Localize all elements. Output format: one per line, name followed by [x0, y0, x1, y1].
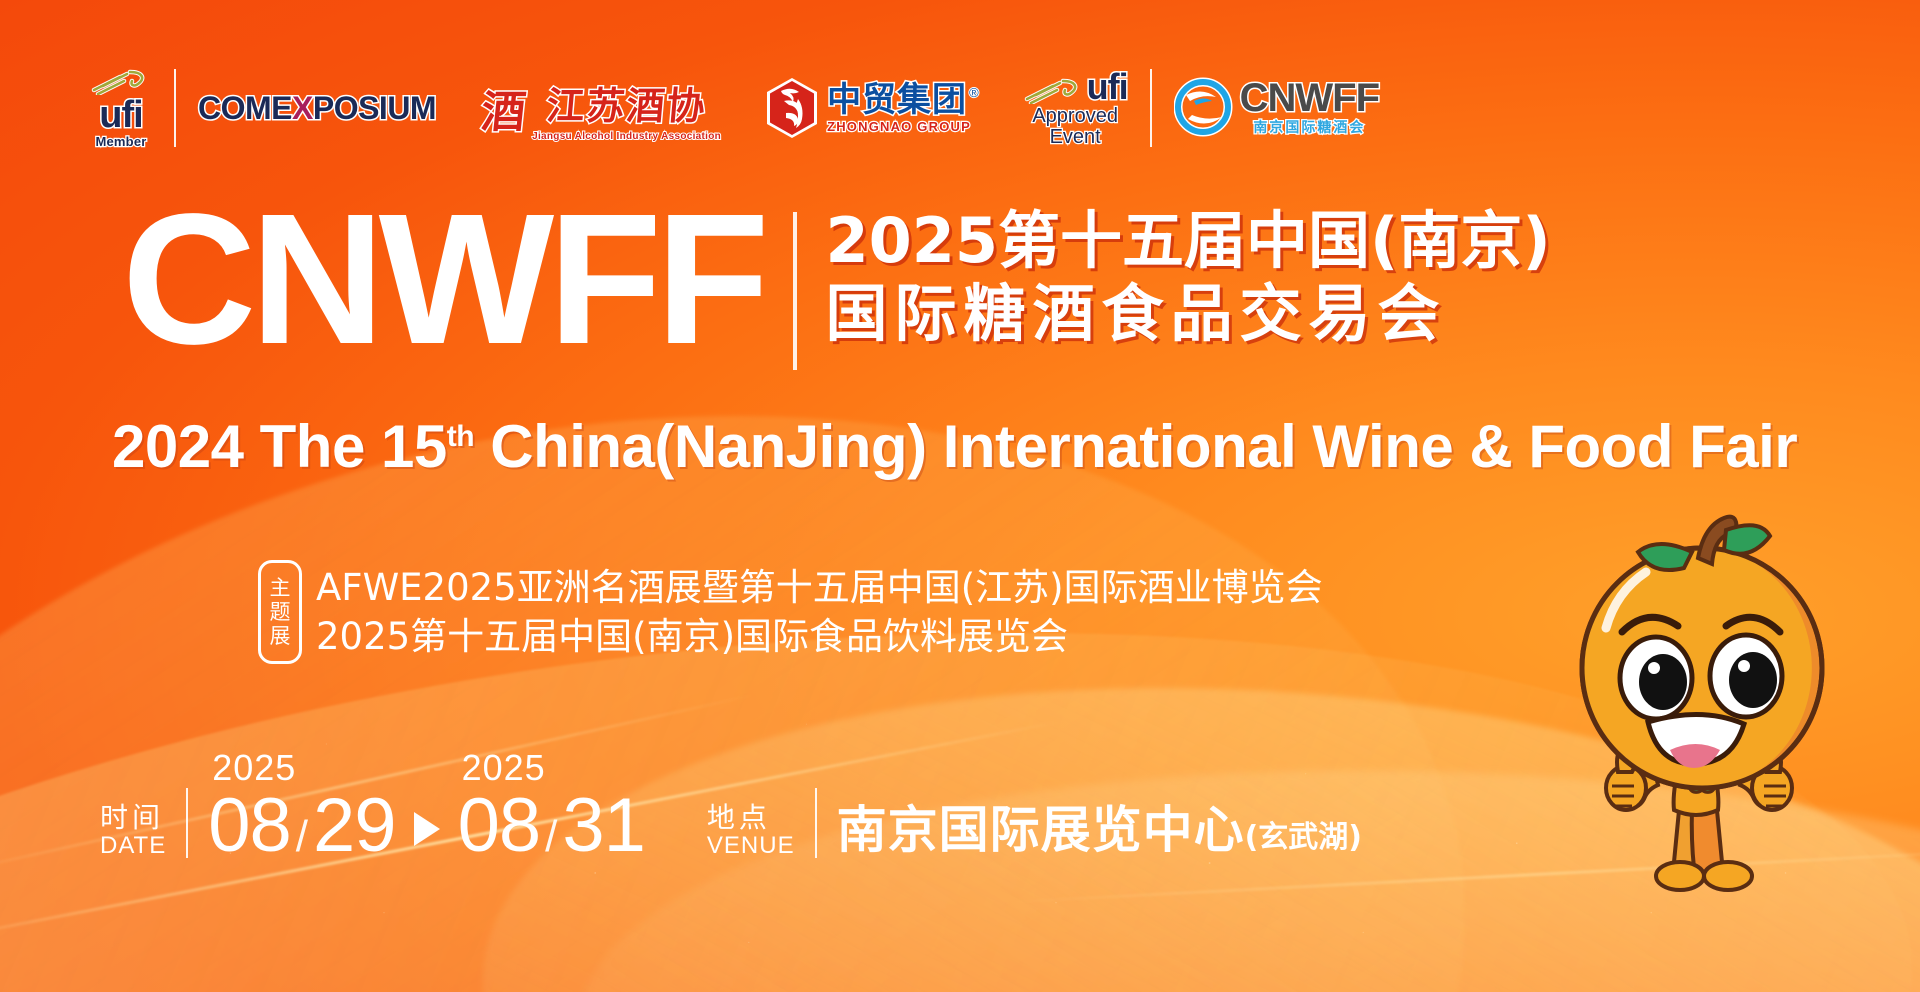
start-year: 2025: [212, 750, 296, 786]
venue-name: 南京国际展览中心: [837, 790, 1245, 862]
zhongmao-group-logo[interactable]: 中贸集团 ® ZHONGNAO GROUP: [743, 56, 1001, 160]
peach-mascot: [1530, 500, 1890, 920]
jiangsu-en-name: Jiangsu Alcohol Industry Association: [532, 131, 721, 142]
end-date: 2025 08 / 31: [458, 750, 645, 864]
ufi-event-label: Event: [1050, 127, 1101, 148]
hero-en-ordinal: th: [447, 420, 474, 453]
theme-badge: 主 题 展: [258, 560, 302, 664]
zhongmao-mark-icon: [765, 77, 819, 139]
registered-trademark-icon: ®: [969, 85, 979, 100]
date-label-cn: 时间: [100, 803, 164, 832]
cnwff-logo[interactable]: CNWFF 南京国际糖酒会: [1152, 56, 1401, 160]
theme-line-2: 2025第十五届中国(南京)国际食品饮料展览会: [316, 614, 1323, 659]
zhongmao-cn-name: 中贸集团: [827, 83, 967, 117]
cnwff-globe-icon: [1174, 77, 1236, 139]
jiangsu-seal-glyph: 酒: [479, 76, 530, 140]
hero-title-block: CNWFF 2025第十五届中国(南京) 国际糖酒食品交易会: [122, 200, 1551, 370]
hero-cn-line-1: 2025第十五届中国(南京): [825, 206, 1550, 275]
hero-cn-line-2: 国际糖酒食品交易会: [825, 279, 1550, 348]
venue-qualifier: (玄武湖): [1245, 812, 1362, 856]
partner-logo-bar: ufi Member COMEXPOSIUM 酒 江苏酒协 Jiangsu Al…: [68, 56, 1401, 160]
comexposium-x: X: [292, 90, 313, 126]
hero-divider: [793, 212, 797, 370]
end-year: 2025: [462, 750, 546, 786]
jiangsu-alcohol-association-logo[interactable]: 酒 江苏酒协 Jiangsu Alcohol Industry Associat…: [460, 56, 743, 160]
event-info-bar: 时间 DATE 2025 08 / 29 2025 08 / 31: [100, 750, 1362, 864]
date-label: 时间 DATE: [100, 803, 166, 864]
date-divider: [186, 788, 188, 858]
venue-info: 地点 VENUE 南京国际展览中心 (玄武湖): [707, 788, 1362, 864]
ufi-approved-label: Approved: [1032, 106, 1118, 127]
theme-badge-char-1: 主: [270, 578, 291, 599]
start-separator: /: [296, 815, 308, 859]
comexposium-logo[interactable]: COMEXPOSIUM: [176, 56, 458, 160]
theme-exhibition-block: 主 题 展 AFWE2025亚洲名酒展暨第十五届中国(江苏)国际酒业博览会 20…: [258, 560, 1323, 664]
hero-en-rest: China(NanJing) International Wine & Food…: [474, 413, 1797, 480]
ufi-member-label: Member: [95, 135, 146, 148]
comexposium-part2: POSIUM: [313, 90, 436, 126]
cnwff-cn-subtitle: 南京国际糖酒会: [1253, 117, 1365, 137]
end-day: 31: [562, 788, 645, 864]
venue-label-en: VENUE: [707, 833, 795, 858]
play-triangle-icon: [414, 812, 440, 846]
exhibition-banner: ufi Member COMEXPOSIUM 酒 江苏酒协 Jiangsu Al…: [0, 0, 1920, 992]
date-label-en: DATE: [100, 833, 166, 858]
end-separator: /: [545, 815, 557, 859]
ufi-member-logo[interactable]: ufi Member: [68, 56, 174, 160]
start-month: 08: [208, 788, 291, 864]
ufi-approved-event-logo[interactable]: ufi Approved Event: [1001, 56, 1150, 160]
theme-badge-char-3: 展: [270, 626, 291, 647]
start-day: 29: [313, 788, 396, 864]
hero-en-prefix: 2024 The 15: [112, 413, 447, 480]
theme-line-1: AFWE2025亚洲名酒展暨第十五届中国(江苏)国际酒业博览会: [316, 565, 1323, 610]
theme-badge-char-2: 题: [270, 602, 291, 623]
venue-label-cn: 地点: [707, 803, 771, 832]
cnwff-wordmark: CNWFF: [1240, 79, 1379, 117]
end-month: 08: [458, 788, 541, 864]
start-date: 2025 08 / 29: [208, 750, 395, 864]
zhongmao-en-name: ZHONGNAO GROUP: [827, 119, 979, 134]
venue-label: 地点 VENUE: [707, 803, 795, 864]
ufi-wordmark: ufi: [99, 96, 142, 134]
ufi-wordmark: ufi: [1087, 68, 1128, 106]
ufi-swoosh-icon: [1023, 78, 1085, 104]
date-range: 2025 08 / 29 2025 08 / 31: [208, 750, 645, 864]
jiangsu-cn-name: 江苏酒协: [544, 75, 709, 130]
hero-english-subtitle: 2024 The 15th China(NanJing) Internation…: [112, 412, 1797, 481]
venue-divider: [815, 788, 817, 858]
ufi-swoosh-icon: [90, 69, 152, 95]
comexposium-part1: COME: [198, 90, 292, 126]
hero-wordmark: CNWFF: [122, 200, 763, 360]
